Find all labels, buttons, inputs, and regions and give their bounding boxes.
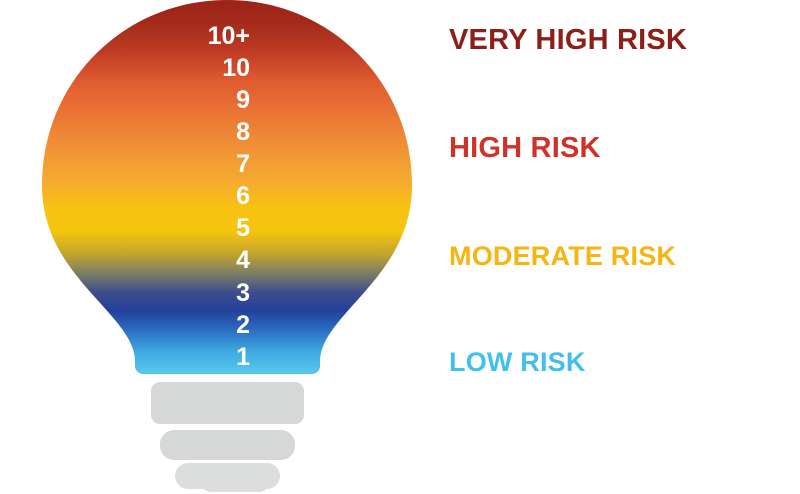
scale-number-1: 1 (140, 345, 250, 370)
socket-ring (160, 430, 295, 460)
bulb-socket (151, 382, 304, 492)
scale-number-7: 7 (140, 152, 250, 177)
risk-scale-graphic: 10+ 10 9 8 7 6 5 4 3 2 1 VERY HIGH RISK … (0, 0, 800, 494)
scale-number-3: 3 (140, 281, 250, 306)
socket-collar (151, 382, 304, 424)
scale-number-8: 8 (140, 120, 250, 145)
risk-scale-numbers: 10+ 10 9 8 7 6 5 4 3 2 1 (140, 0, 250, 380)
scale-number-5: 5 (140, 216, 250, 241)
scale-number-9: 9 (140, 88, 250, 113)
risk-label-moderate: MODERATE RISK (449, 243, 676, 270)
scale-number-6: 6 (140, 184, 250, 209)
scale-number-2: 2 (140, 313, 250, 338)
risk-label-very-high: VERY HIGH RISK (449, 26, 687, 55)
socket-contact-bump (200, 470, 270, 492)
risk-level-legend: VERY HIGH RISK HIGH RISK MODERATE RISK L… (449, 0, 789, 420)
risk-label-low: LOW RISK (449, 349, 586, 376)
risk-label-high: HIGH RISK (449, 134, 601, 163)
scale-number-10plus: 10+ (140, 24, 250, 49)
scale-number-10: 10 (140, 56, 250, 81)
scale-number-4: 4 (140, 248, 250, 273)
